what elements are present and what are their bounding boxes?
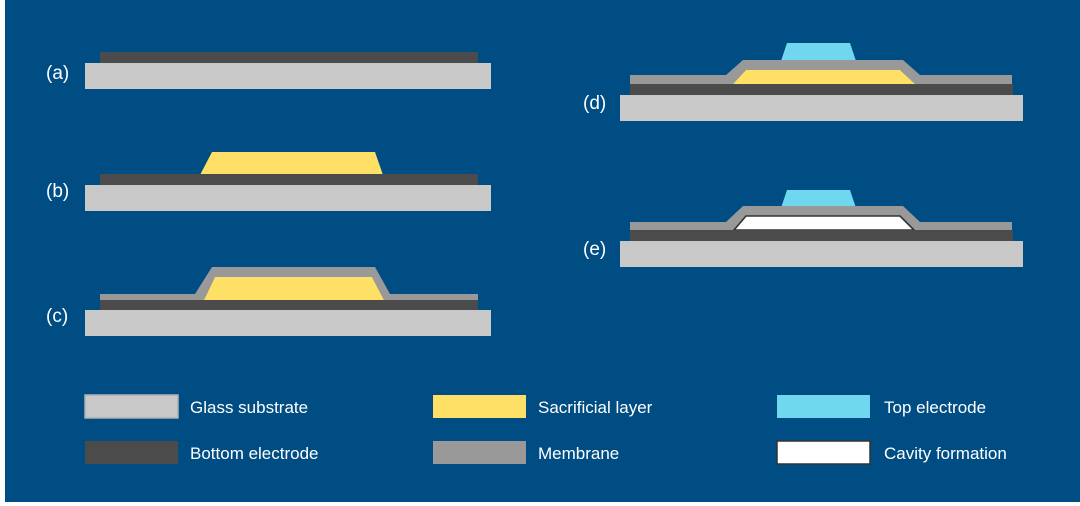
panel-c-sacrificial-layer (203, 277, 385, 302)
panel-b-glass-substrate (85, 185, 491, 211)
step-label-a: (a) (46, 63, 69, 85)
panel-d-top-electrode (781, 43, 856, 61)
panel-b-bottom-electrode (100, 174, 478, 185)
panel-d-glass-substrate (620, 95, 1023, 121)
panel-e-cavity-formation (734, 216, 914, 230)
legend-swatch-glass-substrate (85, 395, 178, 418)
legend-swatch-bottom-electrode (85, 441, 178, 464)
panel-b-sacrificial-layer (200, 152, 383, 175)
legend-swatch-membrane (433, 441, 526, 464)
step-label-c: (c) (46, 306, 68, 328)
diagram-vector-layer (0, 0, 1080, 506)
panel-a-bottom-electrode (100, 52, 478, 63)
step-label-e: (e) (583, 239, 606, 261)
panel-d-bottom-electrode (630, 84, 1013, 95)
panel-c-glass-substrate (85, 310, 491, 336)
legend-label-membrane: Membrane (538, 444, 619, 464)
legend-label-glass-substrate: Glass substrate (190, 398, 308, 418)
process-flow-figure: (a) (b) (c) (d) (e) Glass substrate Bott… (0, 0, 1080, 506)
step-label-d: (d) (583, 93, 606, 115)
legend-swatch-sacrificial-layer (433, 395, 526, 418)
legend-label-bottom-electrode: Bottom electrode (190, 444, 319, 464)
panel-d (620, 43, 1023, 121)
panel-c-bottom-electrode (100, 300, 478, 310)
panel-e (620, 190, 1023, 267)
panel-d-sacrificial-layer (733, 70, 915, 84)
panel-e-top-electrode (781, 190, 856, 208)
panel-b (85, 152, 491, 211)
panel-e-bottom-electrode (630, 230, 1013, 241)
legend-swatch-top-electrode (777, 395, 870, 418)
panel-c (85, 267, 491, 336)
step-label-b: (b) (46, 181, 69, 203)
legend-label-sacrificial-layer: Sacrificial layer (538, 398, 652, 418)
panel-a (85, 52, 491, 89)
legend-label-top-electrode: Top electrode (884, 398, 986, 418)
panel-a-glass-substrate (85, 63, 491, 89)
legend-label-cavity-formation: Cavity formation (884, 444, 1007, 464)
panel-e-glass-substrate (620, 241, 1023, 267)
legend-swatch-cavity-formation (777, 441, 870, 464)
